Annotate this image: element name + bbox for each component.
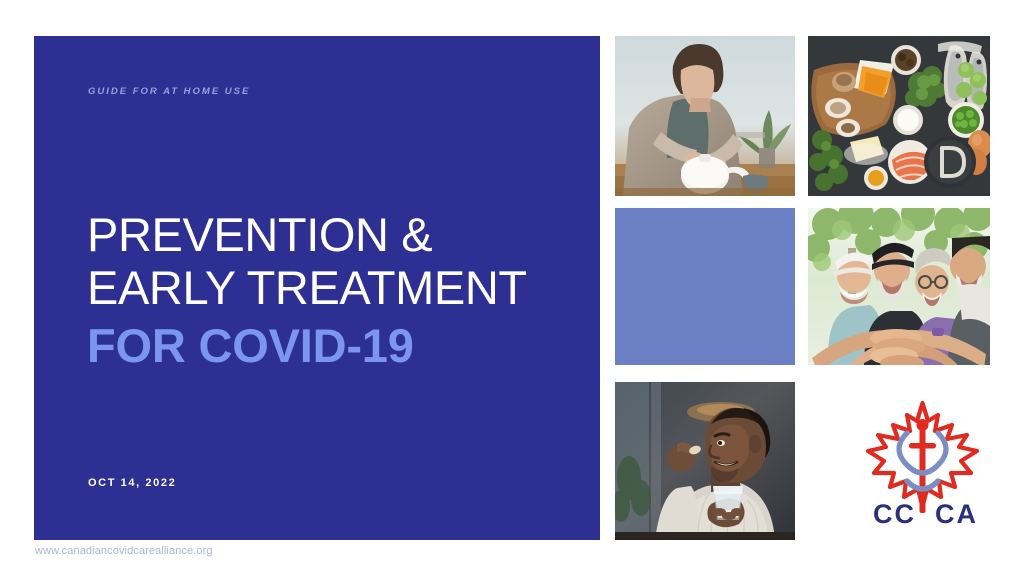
image-tile-teapot xyxy=(615,36,795,196)
image-tile-man-taking-supplement xyxy=(615,382,795,540)
eyebrow-label: GUIDE FOR AT HOME USE xyxy=(88,86,250,97)
title-line-1: PREVENTION & xyxy=(87,208,587,261)
vitamin-d-foods-photo xyxy=(808,36,990,196)
footer-website-url[interactable]: www.canadiancovidcarealliance.org xyxy=(35,545,213,557)
ccca-logo-mark: CC CA xyxy=(855,395,990,540)
title-accent-line: FOR COVID-19 xyxy=(87,314,587,374)
date-label: OCT 14, 2022 xyxy=(88,477,176,489)
page-title: PREVENTION & EARLY TREATMENT FOR COVID-1… xyxy=(87,208,587,374)
image-tile-placeholder-block xyxy=(615,208,795,365)
logo-wordmark-left: CC xyxy=(873,499,916,529)
man-taking-supplement-photo xyxy=(615,382,795,540)
title-slide: GUIDE FOR AT HOME USE PREVENTION & EARLY… xyxy=(0,0,1024,576)
image-tile-vitamin-d-foods xyxy=(808,36,990,196)
seniors-group-photo xyxy=(808,208,990,365)
image-tile-seniors-group xyxy=(808,208,990,365)
title-line-2: EARLY TREATMENT xyxy=(87,261,587,314)
teapot-photo xyxy=(615,36,795,196)
hero-panel: GUIDE FOR AT HOME USE PREVENTION & EARLY… xyxy=(34,36,600,540)
logo-wordmark-right: CA xyxy=(935,499,978,529)
ccca-logo: CC CA xyxy=(855,395,990,540)
